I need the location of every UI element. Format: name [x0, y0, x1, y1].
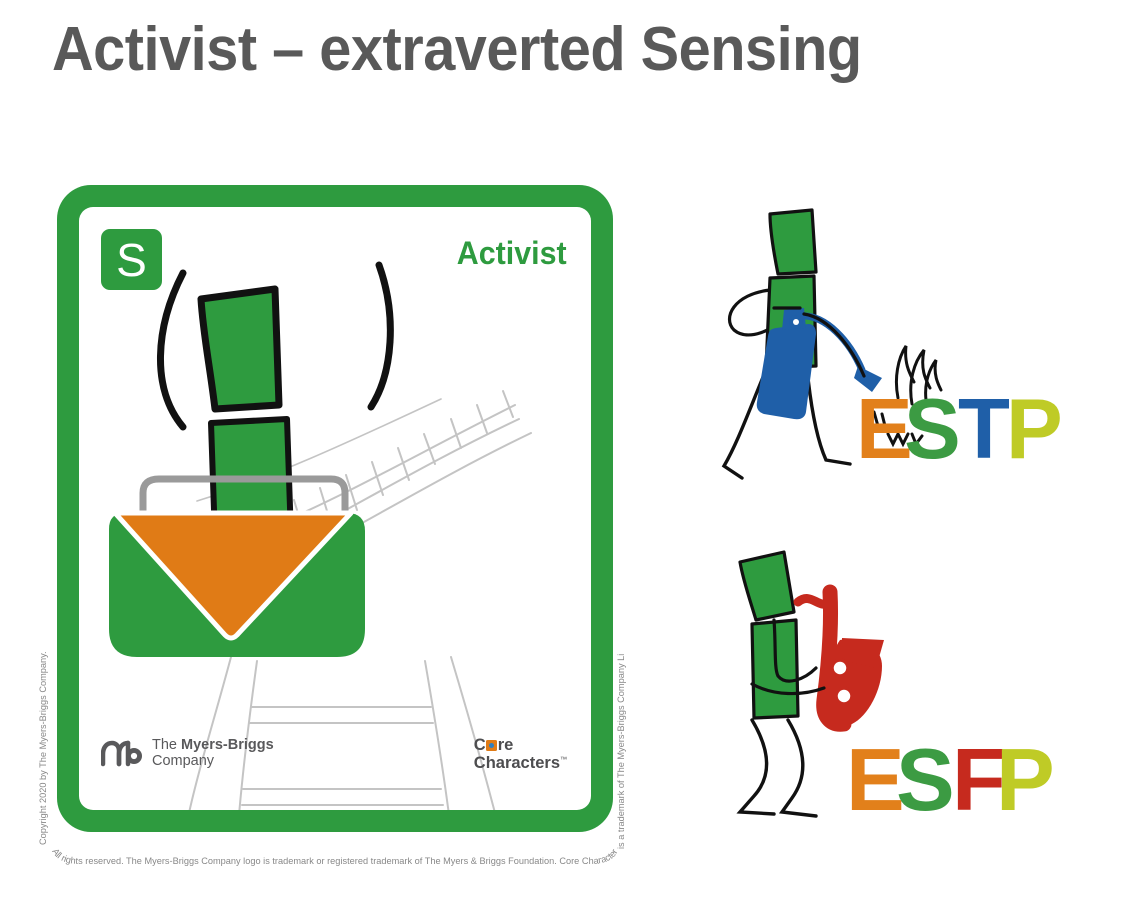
saxophone-key-2 — [836, 688, 852, 704]
core-characters-card: S Activist — [57, 185, 613, 832]
esfp-type-code: E S F P — [846, 730, 1055, 829]
saxophone — [798, 590, 884, 726]
esfp-letter-3: P — [996, 730, 1055, 829]
mb-wordmark-company: Company — [152, 754, 274, 770]
figure-head — [770, 210, 816, 274]
figure-head — [740, 552, 794, 620]
estp-letter-2: T — [958, 382, 1010, 477]
saxophone-key-1 — [832, 660, 848, 676]
esfp-illustration: E S F P — [712, 520, 1062, 850]
estp-letter-3: P — [1006, 382, 1060, 477]
mb-monogram-icon — [101, 740, 143, 767]
copyright-left-textpath: Copyright 2020 by The Myers-Briggs Compa… — [38, 651, 48, 845]
mb-wordmark: The Myers-Briggs Company — [152, 738, 274, 769]
estp-letter-1: S — [904, 382, 961, 477]
estp-illustration: E S T P — [700, 198, 1060, 498]
cc-logo-c: C — [474, 736, 486, 754]
figure-head — [201, 289, 279, 409]
figure-legs — [740, 720, 816, 816]
core-characters-logo: Cre Characters™ — [474, 736, 567, 773]
mb-wordmark-the: The — [152, 737, 181, 753]
cc-logo-re: re — [498, 736, 514, 754]
card-face: S Activist — [79, 207, 591, 810]
rollercoaster-rider-illustration — [79, 257, 591, 810]
page-title: Activist – extraverted Sensing — [52, 14, 862, 85]
mb-wordmark-myers-briggs: Myers-Briggs — [181, 737, 274, 753]
estp-type-code: E S T P — [856, 382, 1060, 477]
copyright-left-text: Copyright 2020 by The Myers-Briggs Compa… — [38, 651, 48, 845]
extinguisher-valve-hole — [793, 319, 799, 325]
cc-logo-tm: ™ — [560, 757, 567, 764]
esfp-letter-1: S — [896, 730, 955, 829]
cc-logo-characters: Characters — [474, 754, 560, 772]
cc-logo-o-swatch-icon — [486, 740, 497, 751]
myers-briggs-logo: The Myers-Briggs Company — [101, 738, 274, 769]
card-footer: The Myers-Briggs Company Cre Characters™ — [79, 734, 591, 792]
fire-extinguisher — [757, 324, 816, 419]
